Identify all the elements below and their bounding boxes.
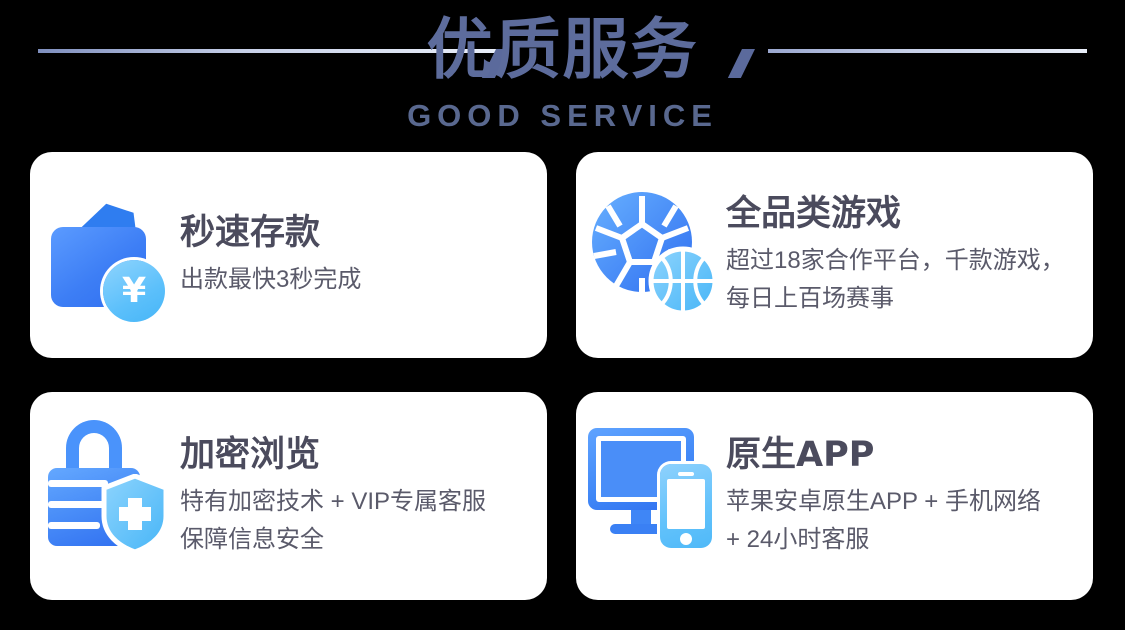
card-title: 原生APP (726, 433, 1075, 477)
wallet-yen-icon: ¥ (30, 152, 180, 358)
feature-card-native-app[interactable]: 原生APP 苹果安卓原生APP + 手机网络 + 24小时客服 (576, 392, 1093, 600)
yen-symbol-icon: ¥ (103, 260, 165, 322)
smartphone-icon (660, 464, 712, 548)
card-title: 加密浏览 (180, 433, 529, 477)
shield-plus-icon (100, 474, 170, 554)
card-description: 出款最快3秒完成 (180, 261, 520, 299)
lock-shield-icon (30, 392, 180, 600)
feature-card-deposit[interactable]: ¥ 秒速存款 出款最快3秒完成 (30, 152, 547, 358)
page-title: 优质服务 (0, 8, 1125, 92)
card-title: 秒速存款 (180, 211, 529, 255)
feature-card-grid: ¥ 秒速存款 出款最快3秒完成 (30, 152, 1093, 600)
monitor-phone-icon (576, 392, 726, 600)
feature-card-encryption[interactable]: 加密浏览 特有加密技术 + VIP专属客服保障信息安全 (30, 392, 547, 600)
card-description: 苹果安卓原生APP + 手机网络 + 24小时客服 (726, 483, 1046, 559)
soccer-basketball-icon (576, 152, 726, 358)
page-subtitle: GOOD SERVICE (0, 97, 1125, 135)
card-description: 特有加密技术 + VIP专属客服保障信息安全 (180, 483, 500, 559)
card-title: 全品类游戏 (726, 192, 1075, 236)
card-description: 超过18家合作平台，千款游戏，每日上百场赛事 (726, 242, 1066, 318)
page-header: 优质服务 GOOD SERVICE (0, 0, 1125, 150)
feature-card-games[interactable]: 全品类游戏 超过18家合作平台，千款游戏，每日上百场赛事 (576, 152, 1093, 358)
basketball-icon (648, 246, 718, 316)
